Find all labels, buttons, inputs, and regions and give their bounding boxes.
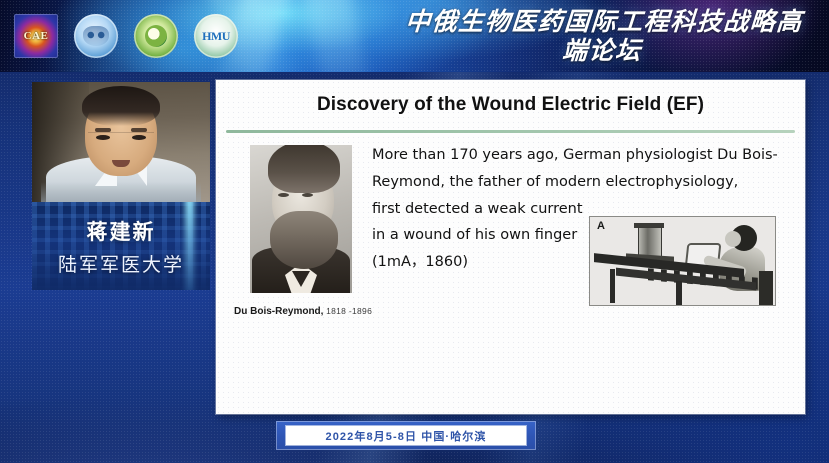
portrait-eye-left [278,193,289,197]
speaker-glasses-icon [88,132,154,147]
engraving-chair [759,271,773,305]
slide-body-line: Reymond, the father of modern electrophy… [372,169,772,196]
organizer-logo-row: CAE HMU [14,14,238,58]
event-title-block: 中俄生物医药国际工程科技战略高端论坛 暨第十三届中俄国际药理学大会 [393,8,813,72]
portrait-caption-years: 1818 -1896 [326,306,372,316]
green-emblem-glyph-icon [145,25,167,47]
slide-title: Discovery of the Wound Electric Field (E… [216,94,805,116]
portrait-caption-name: Du Bois-Reymond, [234,306,323,317]
broadcast-screen: CAE HMU 中俄生物医药国际工程科技战略高端论坛 暨第十三届中俄国际药理学大… [0,0,829,463]
portrait-eye-right [302,193,313,197]
speaker-nameplate: 蒋建新 陆军军医大学 [32,202,210,290]
portrait-caption: Du Bois-Reymond, 1818 -1896 [234,306,372,317]
harbin-medical-university-logo: HMU [194,14,238,58]
event-date-banner: 2022年8月5-8日 中国·哈尔滨 [276,421,536,450]
engraving-panel-label: A [597,220,605,232]
engraving-bench-leg-right [676,281,682,306]
historical-experiment-engraving: A [589,216,776,306]
institution-green-emblem-logo [134,14,178,58]
institution-blue-emblem-logo [74,14,118,58]
blue-emblem-glyph-icon [83,26,109,46]
engraving-experimenter-face [725,231,741,247]
slide-body-line: More than 170 years ago, German physiolo… [372,142,772,169]
engraving-experimenter [707,225,765,303]
speaker-name: 蒋建新 [32,216,210,246]
speaker-organization: 陆军军医大学 [32,250,210,277]
speaker-vest [41,182,201,202]
hmu-logo-label: HMU [202,29,230,44]
portrait-beard [270,211,338,269]
cae-logo-label: CAE [24,30,49,42]
presentation-slide[interactable]: Discovery of the Wound Electric Field (E… [216,80,805,414]
slide-title-divider [226,130,795,133]
speaker-video-feed[interactable] [32,82,210,202]
du-bois-reymond-portrait [250,145,352,293]
event-main-title: 中俄生物医药国际工程科技战略高端论坛 [391,8,815,66]
portrait-hair [268,145,340,193]
chinese-academy-of-engineering-logo: CAE [14,14,58,58]
speaker-hair [82,86,160,126]
engraving-bench-leg-left [610,269,615,303]
event-date-location-text: 2022年8月5-8日 中国·哈尔滨 [325,428,486,444]
event-header-banner: CAE HMU 中俄生物医药国际工程科技战略高端论坛 暨第十三届中俄国际药理学大… [0,0,829,72]
event-date-inner-panel: 2022年8月5-8日 中国·哈尔滨 [286,426,526,445]
